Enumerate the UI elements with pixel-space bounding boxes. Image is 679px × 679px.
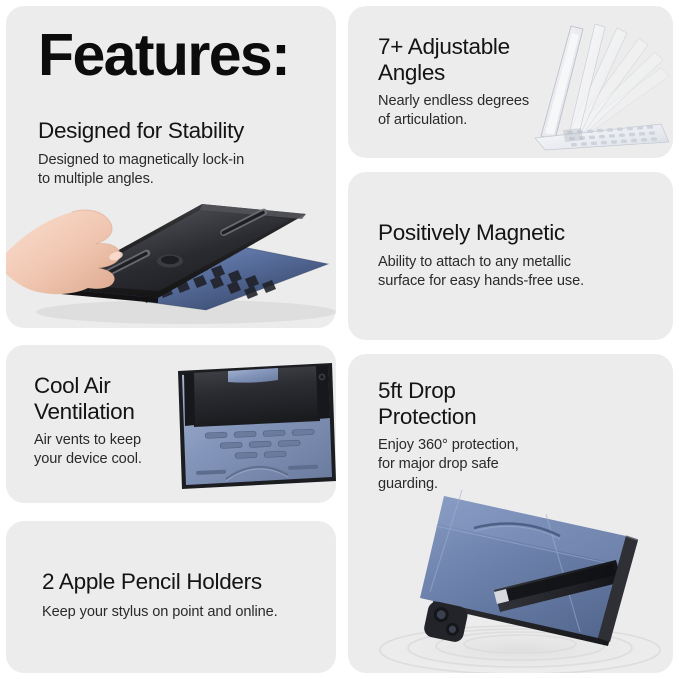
feature-grid: Features: Designed for Stability Designe… [0, 0, 679, 679]
card-adjustable-angles: 7+ Adjustable Angles Nearly endless degr… [348, 6, 673, 158]
card-apple-pencil-holders: 2 Apple Pencil Holders Keep your stylus … [6, 521, 336, 673]
card-pencil-headline: 2 Apple Pencil Holders [42, 569, 262, 595]
card-drop-subline: Enjoy 360° protection, for major drop sa… [378, 436, 519, 494]
card-magnetic-headline: Positively Magnetic [378, 220, 565, 246]
multi-angle-ghosted-tablet-photo [511, 16, 671, 154]
card-angles-headline: 7+ Adjustable Angles [378, 34, 510, 86]
card-drop-protection: 5ft Drop Protection Enjoy 360° protectio… [348, 354, 673, 673]
card-vent-headline: Cool Air Ventilation [34, 373, 135, 425]
card-designed-for-stability: Features: Designed for Stability Designe… [6, 6, 336, 328]
card-positively-magnetic: Positively Magnetic Ability to attach to… [348, 172, 673, 340]
card-stability-headline: Designed for Stability [38, 118, 244, 144]
card-stability-subline: Designed to magnetically lock-in to mult… [38, 151, 244, 190]
card-drop-headline: 5ft Drop Protection [378, 378, 476, 430]
page-title: Features: [38, 26, 289, 85]
card-vent-subline: Air vents to keep your device cool. [34, 431, 142, 470]
hand-adjusting-tablet-case-photo [6, 176, 336, 328]
card-cool-air-ventilation: Cool Air Ventilation Air vents to keep y… [6, 345, 336, 503]
card-angles-subline: Nearly endless degrees of articulation. [378, 92, 529, 131]
card-magnetic-subline: Ability to attach to any metallic surfac… [378, 253, 584, 292]
card-pencil-subline: Keep your stylus on point and online. [42, 603, 278, 622]
vented-case-back-photo [170, 349, 336, 499]
